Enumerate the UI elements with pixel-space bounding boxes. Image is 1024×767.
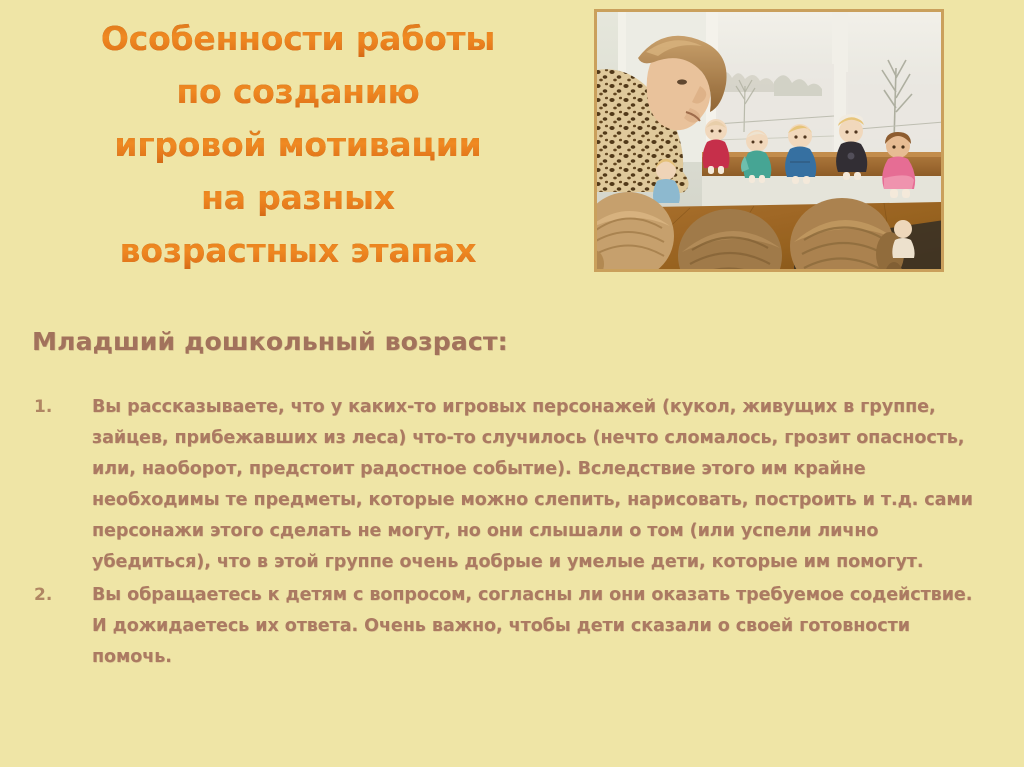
section-subtitle: Младший дошкольный возраст: (32, 327, 508, 357)
list-item: 2. Вы обращаетесь к детям с вопросом, со… (30, 580, 992, 673)
slide-canvas: Особенности работы по созданию игровой м… (0, 0, 1024, 767)
title-line-4: на разных (20, 171, 576, 224)
list-item-marker: 2. (30, 580, 92, 611)
list-item-marker: 1. (30, 392, 92, 423)
title-line-5: возрастных этапах (20, 224, 576, 277)
title-line-3: игровой мотивации (20, 118, 576, 171)
classroom-photo (594, 9, 944, 272)
list-item-text: Вы рассказываете, что у каких-то игровых… (92, 392, 992, 578)
classroom-photo-image (597, 12, 941, 269)
title-line-1: Особенности работы (20, 12, 576, 65)
title-line-2: по созданию (20, 65, 576, 118)
page-title: Особенности работы по созданию игровой м… (20, 12, 576, 277)
list-item-text: Вы обращаетесь к детям с вопросом, согла… (92, 580, 992, 673)
list-item: 1. Вы рассказываете, что у каких-то игро… (30, 392, 992, 578)
numbered-list: 1. Вы рассказываете, что у каких-то игро… (30, 392, 992, 675)
